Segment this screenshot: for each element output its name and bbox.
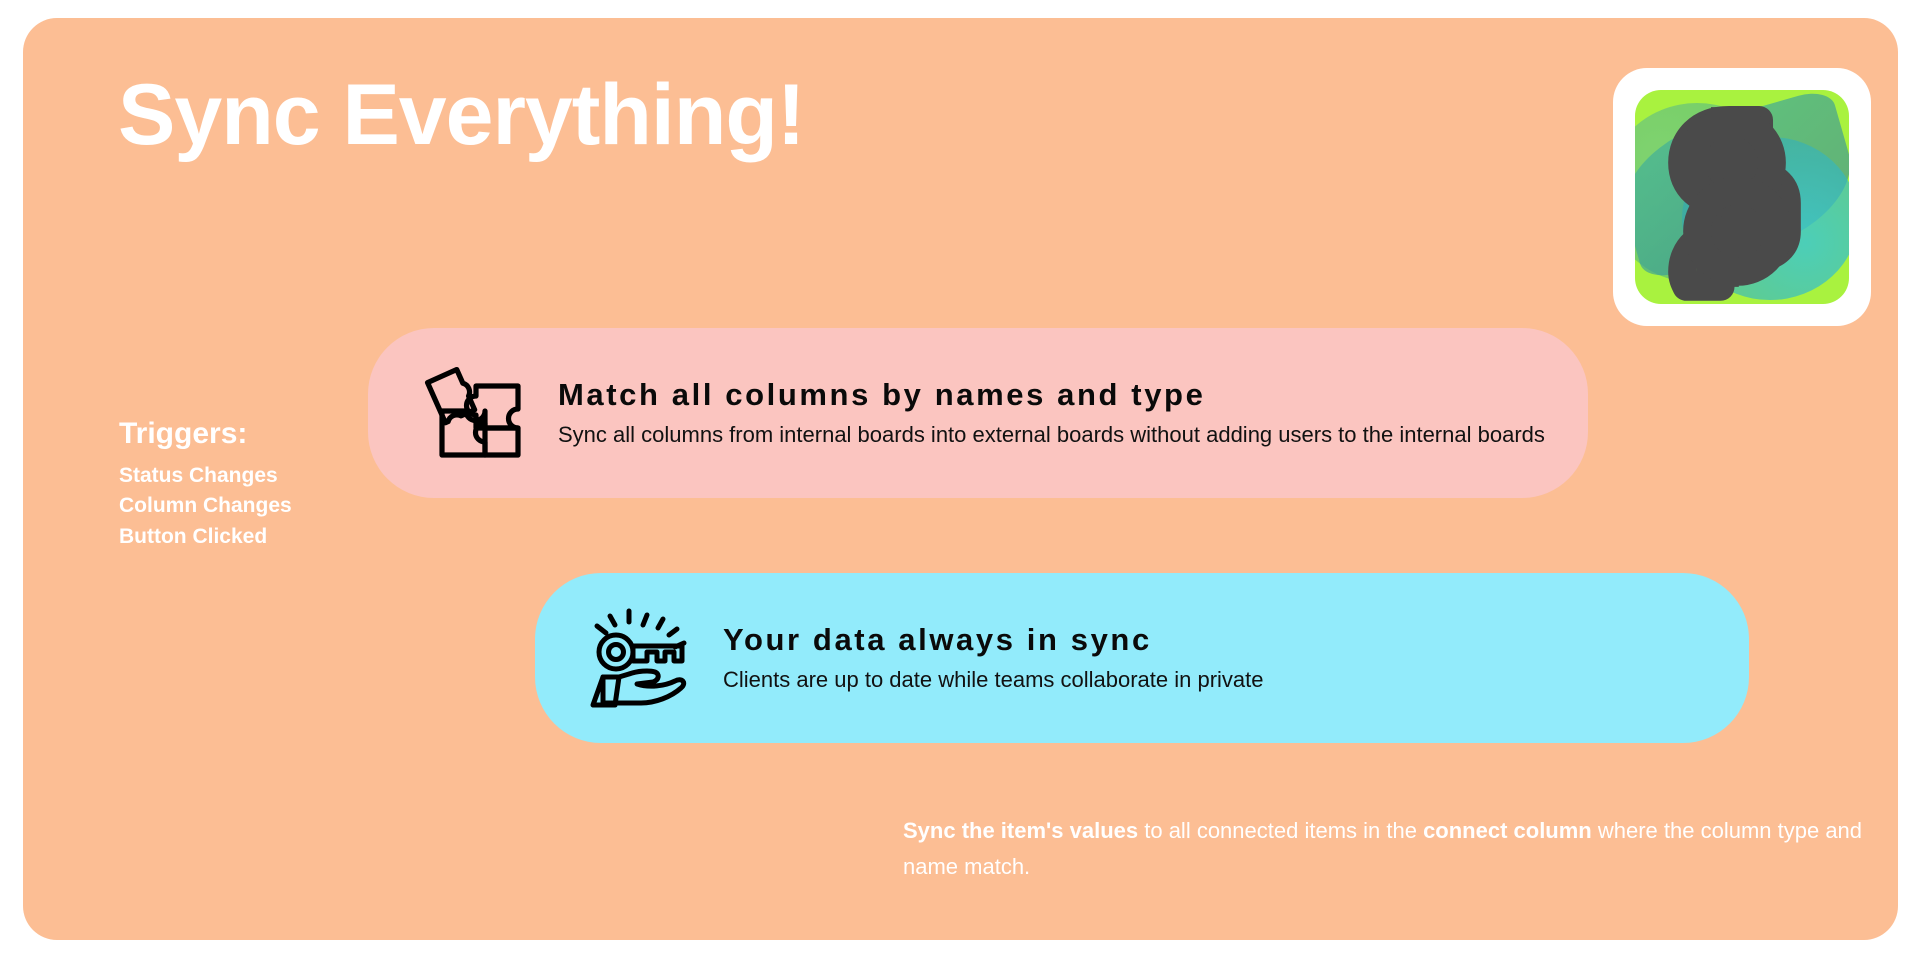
key-in-hand-icon (579, 604, 697, 712)
footer-strong-2: connect column (1423, 818, 1592, 843)
page-title: Sync Everything! (118, 72, 805, 158)
logo-tile (1635, 90, 1849, 304)
card-text-block: Your data always in sync Clients are up … (723, 621, 1715, 694)
footer-strong-1: Sync the item's values (903, 818, 1138, 843)
feature-card-match-columns: Match all columns by names and type Sync… (368, 328, 1588, 498)
feature-card-data-in-sync: Your data always in sync Clients are up … (535, 573, 1749, 743)
card-heading: Match all columns by names and type (558, 376, 1554, 413)
triggers-block: Triggers: Status Changes Column Changes … (119, 416, 292, 553)
card-body: Sync all columns from internal boards in… (558, 420, 1554, 449)
trigger-item-status-changes: Status Changes (119, 461, 292, 492)
puzzle-pieces-icon (414, 359, 532, 467)
card-text-block: Match all columns by names and type Sync… (558, 376, 1554, 449)
sync-loop-icon (1635, 90, 1849, 304)
triggers-title: Triggers: (119, 416, 292, 453)
card-heading: Your data always in sync (723, 621, 1715, 658)
app-logo (1613, 68, 1871, 326)
slide-canvas: Sync Everything! Triggers: Status Change… (0, 0, 1920, 960)
card-body: Clients are up to date while teams colla… (723, 665, 1715, 694)
footer-note: Sync the item's values to all connected … (903, 813, 1863, 884)
main-panel: Sync Everything! Triggers: Status Change… (23, 18, 1898, 940)
footer-text-1: to all connected items in the (1138, 818, 1423, 843)
trigger-item-button-clicked: Button Clicked (119, 522, 292, 553)
trigger-item-column-changes: Column Changes (119, 491, 292, 522)
